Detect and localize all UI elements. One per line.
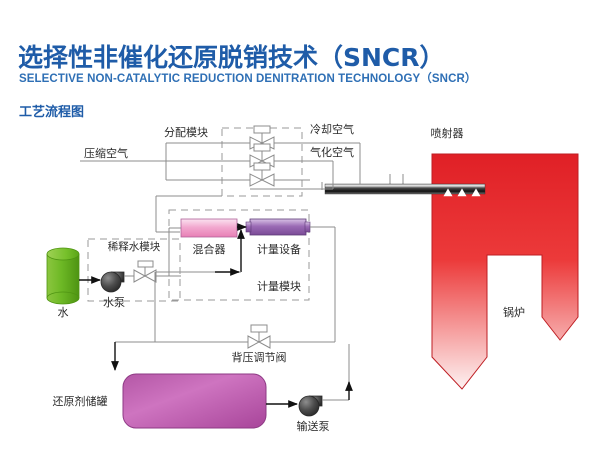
mixer-vessel — [181, 219, 237, 237]
page-title-zh: 选择性非催化还原脱销技术（SNCR） — [18, 38, 445, 74]
reductant-storage-tank-group: 还原剂储罐 输送泵 — [53, 272, 350, 433]
dilution-water-module-group: 稀释水模块 水 水泵 — [47, 228, 181, 319]
water-label: 水 — [58, 306, 69, 319]
metering-equipment-label: 计量设备 — [257, 242, 301, 256]
metering-module-group: 混合器 计量设备 计量模块 — [155, 210, 310, 300]
back-pressure-valve-label: 背压调节阀 — [232, 350, 287, 364]
dilution-water-module-label: 稀释水模块 — [108, 240, 161, 253]
metering-equipment-vessel — [250, 219, 306, 235]
compressed-air-label: 压缩空气 — [84, 146, 128, 160]
distribution-module-label: 分配模块 — [164, 126, 208, 139]
water-pump-label: 水泵 — [103, 296, 125, 309]
control-valve-icon — [222, 163, 302, 186]
water-tank — [47, 248, 79, 304]
slide-page: 选择性非催化还原脱销技术（SNCR） SELECTIVE NON-CATALYT… — [0, 0, 600, 450]
page-title-en: SELECTIVE NON-CATALYTIC REDUCTION DENITR… — [19, 70, 476, 86]
delivery-pump — [299, 396, 322, 416]
process-flow-diagram: 锅炉 喷射器 分配模块 — [0, 112, 600, 450]
reductant-storage-tank — [123, 374, 266, 428]
gasification-air-label: 气化空气 — [310, 145, 354, 159]
injector-label: 喷射器 — [431, 126, 464, 140]
mixer-label: 混合器 — [193, 242, 226, 256]
water-pump — [101, 272, 124, 292]
boiler-label: 锅炉 — [503, 306, 525, 319]
reductant-storage-tank-label: 还原剂储罐 — [53, 394, 108, 408]
delivery-pump-label: 输送泵 — [297, 419, 330, 433]
cooling-air-label: 冷却空气 — [310, 122, 354, 136]
back-pressure-valve-group: 背压调节阀 — [115, 325, 335, 370]
distribution-module-group: 分配模块 — [80, 122, 360, 232]
metering-module-label: 计量模块 — [257, 280, 301, 293]
control-valve-icon — [248, 325, 270, 348]
